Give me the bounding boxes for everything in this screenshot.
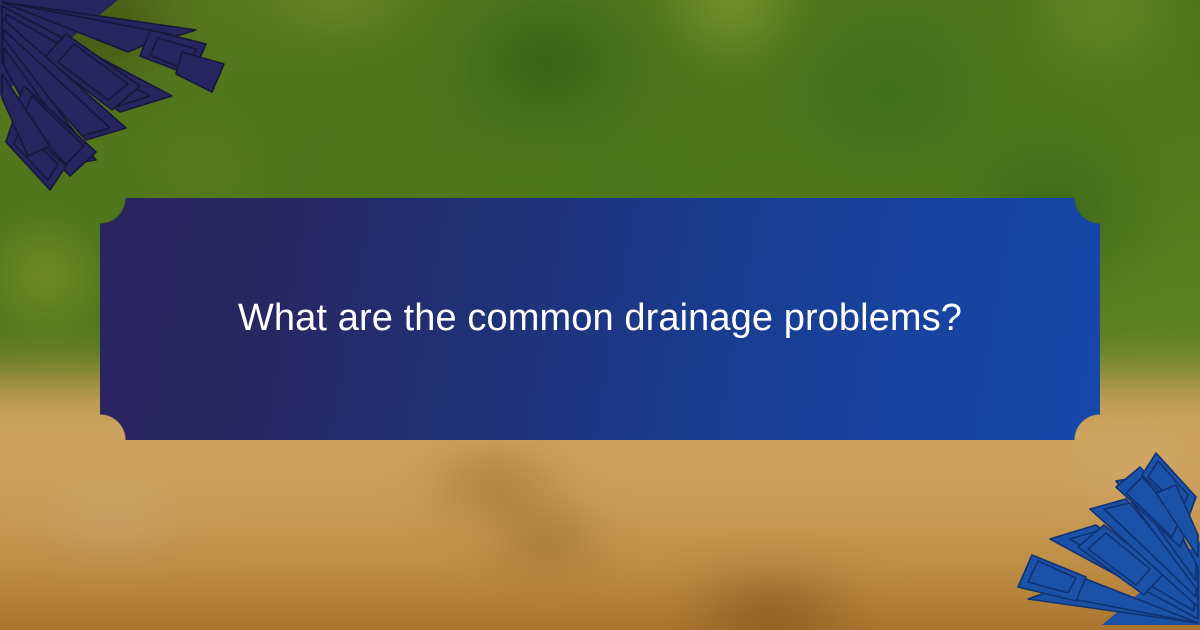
question-banner-surface: What are the common drainage problems? [100,198,1100,440]
question-banner: What are the common drainage problems? [100,198,1100,440]
question-card: What are the common drainage problems? [0,0,1200,630]
question-text: What are the common drainage problems? [178,295,1022,343]
